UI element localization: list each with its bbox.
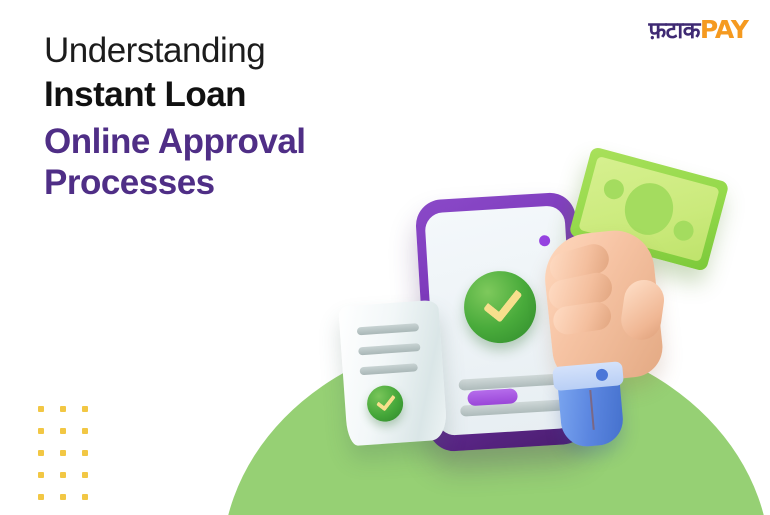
headline-line-1: Understanding bbox=[44, 30, 306, 71]
finger bbox=[546, 241, 612, 286]
grid-dot bbox=[38, 472, 44, 478]
grid-dot bbox=[60, 494, 66, 500]
phone-camera-dot bbox=[539, 235, 551, 247]
document-text-line bbox=[357, 323, 419, 335]
headline-line-2: Instant Loan bbox=[44, 74, 306, 115]
grid-dot bbox=[82, 406, 88, 412]
headline-line-4: Processes bbox=[44, 162, 306, 203]
grid-dot bbox=[60, 450, 66, 456]
banner-canvas: फ़टाक PAY Understanding Instant Loan Onl… bbox=[0, 0, 770, 515]
headline-line-3: Online Approval bbox=[44, 121, 306, 162]
logo-devanagari-text: फ़टाक bbox=[648, 20, 699, 43]
grid-dot bbox=[38, 428, 44, 434]
banknote-center-oval bbox=[619, 178, 679, 241]
grid-dot bbox=[60, 406, 66, 412]
banknote-circle bbox=[602, 177, 626, 201]
grid-dot bbox=[82, 472, 88, 478]
finger bbox=[546, 270, 615, 313]
grid-dot bbox=[38, 406, 44, 412]
banknote-inner bbox=[578, 156, 719, 262]
logo-pay-text: PAY bbox=[700, 17, 748, 42]
green-background-arc bbox=[222, 334, 770, 515]
grid-dot bbox=[38, 450, 44, 456]
grid-dot bbox=[60, 472, 66, 478]
banknote-graphic bbox=[569, 146, 730, 272]
grid-dot bbox=[38, 494, 44, 500]
grid-dot bbox=[60, 428, 66, 434]
brand-logo[interactable]: फ़टाक PAY bbox=[648, 17, 748, 43]
banknote-circle bbox=[671, 218, 695, 242]
thumb bbox=[619, 277, 667, 342]
grid-dot bbox=[82, 494, 88, 500]
grid-dot bbox=[82, 428, 88, 434]
grid-dot bbox=[82, 450, 88, 456]
finger bbox=[551, 300, 612, 336]
dot-grid-decoration bbox=[38, 406, 104, 515]
headline-block: Understanding Instant Loan Online Approv… bbox=[44, 30, 306, 203]
